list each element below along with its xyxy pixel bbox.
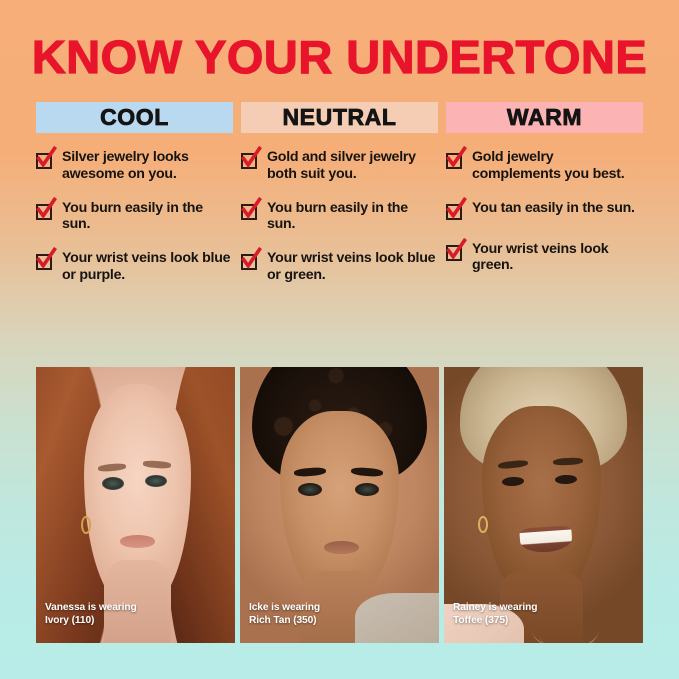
model-photo-rainey: Rainey is wearing Toffee (375) xyxy=(444,367,643,643)
checkmark-icon xyxy=(446,243,464,261)
eye-right xyxy=(145,475,167,487)
check-item[interactable]: You tan easily in the sun. xyxy=(446,200,643,224)
check-item[interactable]: Gold jewelry complements you best. xyxy=(446,149,643,183)
undertone-infographic: KNOW YOUR UNDERTONE COOL Silver jewelry … xyxy=(0,0,679,679)
column-header-cool: COOL xyxy=(36,102,233,133)
check-item-label: Your wrist veins look blue or green. xyxy=(267,250,438,284)
eye-left xyxy=(298,483,322,496)
column-header-warm: WARM xyxy=(446,102,643,133)
hoop-earring-icon xyxy=(478,516,488,533)
check-item-label: You burn easily in the sun. xyxy=(267,200,438,234)
caption-line-2: Rich Tan (350) xyxy=(249,615,320,627)
photo-caption: Rainey is wearing Toffee (375) xyxy=(453,602,537,627)
checklist-cool: Silver jewelry looks awesome on you. You… xyxy=(36,149,233,284)
column-neutral: NEUTRAL Gold and silver jewelry both sui… xyxy=(241,102,438,284)
check-item[interactable]: You burn easily in the sun. xyxy=(36,200,233,234)
checkmark-icon xyxy=(36,252,54,270)
checkmark-icon xyxy=(36,202,54,220)
caption-line-1: Icke is wearing xyxy=(249,602,320,614)
eye-right xyxy=(355,483,379,496)
model-photo-icke: Icke is wearing Rich Tan (350) xyxy=(240,367,439,643)
collar xyxy=(355,593,439,643)
caption-line-1: Vanessa is wearing xyxy=(45,602,137,614)
column-header-neutral: NEUTRAL xyxy=(241,102,438,133)
check-item[interactable]: Gold and silver jewelry both suit you. xyxy=(241,149,438,183)
column-warm: WARM Gold jewelry complements you best. … xyxy=(446,102,643,284)
check-item-label: Gold and silver jewelry both suit you. xyxy=(267,149,438,183)
necklace-chain xyxy=(540,621,596,643)
lips xyxy=(120,535,156,548)
page-title: KNOW YOUR UNDERTONE xyxy=(0,0,679,80)
checklist-warm: Gold jewelry complements you best. You t… xyxy=(446,149,643,274)
eye-left xyxy=(102,477,124,489)
caption-line-1: Rainey is wearing xyxy=(453,602,537,614)
hoop-earring-icon xyxy=(81,516,91,534)
check-item-label: Your wrist veins look green. xyxy=(472,241,643,275)
check-item-label: Your wrist veins look blue or purple. xyxy=(62,250,233,284)
check-item-label: You tan easily in the sun. xyxy=(472,200,635,217)
lips xyxy=(324,541,360,554)
check-item-label: You burn easily in the sun. xyxy=(62,200,233,234)
undertone-columns: COOL Silver jewelry looks awesome on you… xyxy=(0,102,679,284)
checkmark-icon xyxy=(36,151,54,169)
check-item[interactable]: Silver jewelry looks awesome on you. xyxy=(36,149,233,183)
column-cool: COOL Silver jewelry looks awesome on you… xyxy=(36,102,233,284)
checklist-neutral: Gold and silver jewelry both suit you. Y… xyxy=(241,149,438,284)
check-item-label: Gold jewelry complements you best. xyxy=(472,149,643,183)
check-item[interactable]: You burn easily in the sun. xyxy=(241,200,438,234)
checkmark-icon xyxy=(241,252,259,270)
checkmark-icon xyxy=(446,202,464,220)
checkmark-icon xyxy=(241,202,259,220)
photo-caption: Icke is wearing Rich Tan (350) xyxy=(249,602,320,627)
check-item[interactable]: Your wrist veins look blue or green. xyxy=(241,250,438,284)
caption-line-2: Ivory (110) xyxy=(45,615,137,627)
check-item-label: Silver jewelry looks awesome on you. xyxy=(62,149,233,183)
caption-line-2: Toffee (375) xyxy=(453,615,537,627)
check-item[interactable]: Your wrist veins look green. xyxy=(446,241,643,275)
model-photo-vanessa: Vanessa is wearing Ivory (110) xyxy=(36,367,235,643)
photo-caption: Vanessa is wearing Ivory (110) xyxy=(45,602,137,627)
checkmark-icon xyxy=(446,151,464,169)
model-photo-row: Vanessa is wearing Ivory (110) Icke is w… xyxy=(36,367,643,643)
check-item[interactable]: Your wrist veins look blue or purple. xyxy=(36,250,233,284)
checkmark-icon xyxy=(241,151,259,169)
